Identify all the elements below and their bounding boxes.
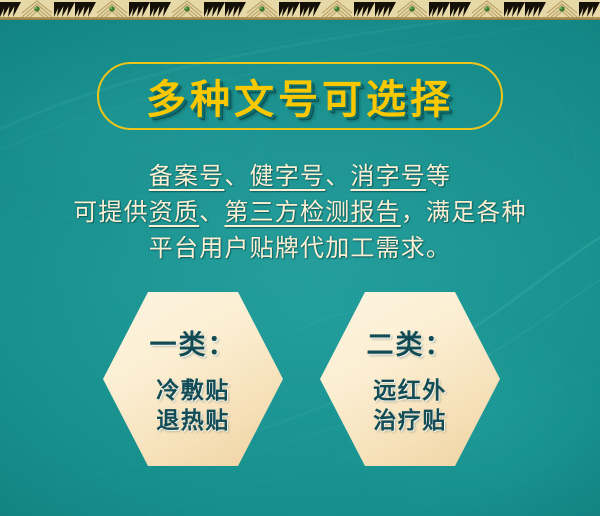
body-segment-underlined: 备案号 (149, 162, 225, 190)
hexagon-items: 远红外治疗贴 (373, 376, 447, 436)
body-segment-underlined: 健字号 (250, 162, 326, 190)
body-segment: 平台用户贴牌代加工需求。 (149, 234, 451, 262)
body-line: 平台用户贴牌代加工需求。 (0, 230, 600, 266)
body-segment: 等 (426, 162, 451, 190)
hexagon-items: 冷敷贴退热贴 (156, 376, 230, 436)
body-segment: 、 (199, 198, 224, 226)
hexagon-item: 退热贴 (156, 406, 230, 436)
hexagon-item: 冷敷贴 (156, 376, 230, 406)
page-title: 多种文号可选择 (99, 64, 501, 128)
body-line: 备案号、健字号、消字号等 (0, 158, 600, 194)
hexagon-title: 一类： (150, 323, 237, 362)
body-segment-underlined: 资质 (149, 198, 199, 226)
border-bottom-edge (0, 17, 600, 20)
body-segment: 、 (224, 162, 249, 190)
hexagon-title: 二类： (367, 323, 454, 362)
hexagon-item: 远红外 (373, 376, 447, 406)
body-paragraph: 备案号、健字号、消字号等 可提供资质、第三方检测报告，满足各种 平台用户贴牌代加… (0, 158, 600, 266)
hexagon-item: 治疗贴 (373, 406, 447, 436)
body-line: 可提供资质、第三方检测报告，满足各种 (0, 194, 600, 230)
promo-poster: 多种文号可选择 备案号、健字号、消字号等 可提供资质、第三方检测报告，满足各种 … (0, 0, 600, 516)
body-segment-underlined: 第三方检测报告 (224, 198, 400, 226)
title-frame: 多种文号可选择 (97, 62, 503, 130)
body-segment: ，满足各种 (401, 198, 527, 226)
body-segment: 可提供 (73, 198, 149, 226)
body-segment: 、 (325, 162, 350, 190)
body-segment-underlined: 消字号 (350, 162, 426, 190)
top-decorative-border (0, 0, 600, 20)
